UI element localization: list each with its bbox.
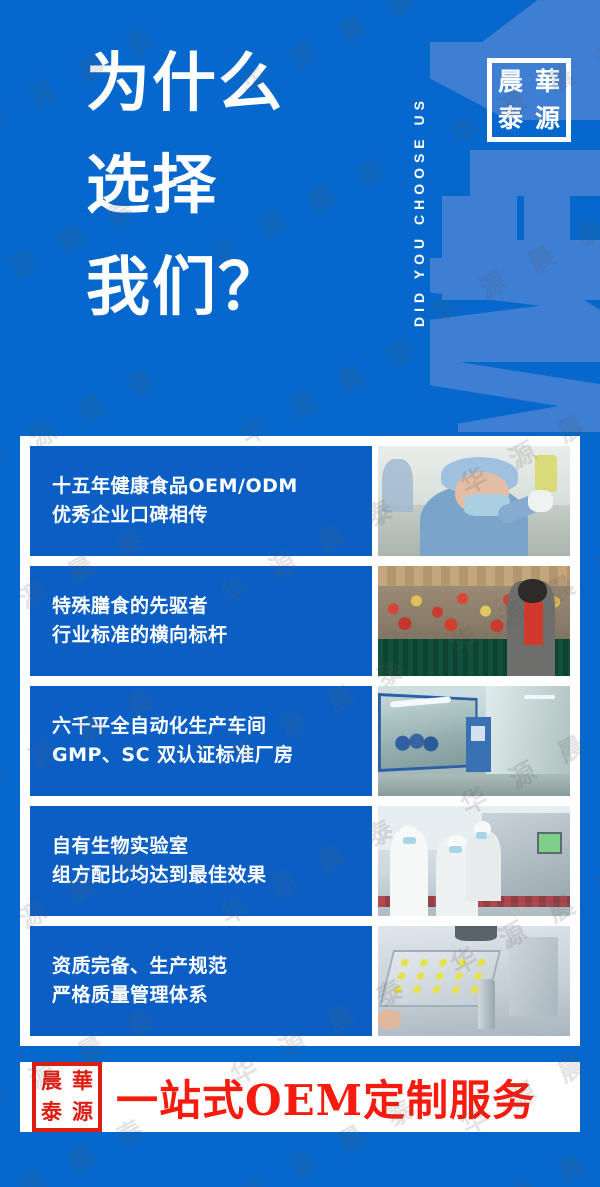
feature-line-2: 行业标准的横向标杆 — [52, 625, 372, 647]
vertical-english-subtitle: DID YOU CHOOSE US — [404, 14, 434, 410]
feature-photo-production-line-workers — [378, 806, 570, 916]
letter-h-bar — [442, 240, 600, 300]
letter-w-stroke-b — [430, 300, 600, 362]
feature-card-text: 六千平全自动化生产车间 GMP、SC 双认证标准厂房 — [30, 686, 372, 796]
letter-h-stem — [524, 150, 570, 300]
feature-line-2: 优秀企业口碑相传 — [52, 505, 372, 527]
feature-line-1: 特殊膳食的先驱者 — [52, 596, 372, 618]
feature-card: 特殊膳食的先驱者 行业标准的横向标杆 — [30, 566, 570, 676]
page-title: 为什么 选择 我们？ — [86, 52, 386, 320]
feature-photo-conference-audience — [378, 566, 570, 676]
feature-card-panel: 十五年健康食品OEM/ODM 优秀企业口碑相传 特殊膳食的先驱者 行业标准的横向… — [20, 436, 580, 1046]
feature-card-text: 特殊膳食的先驱者 行业标准的横向标杆 — [30, 566, 372, 676]
feature-line-1: 自有生物实验室 — [52, 836, 372, 858]
feature-card: 资质完备、生产规范 严格质量管理体系 — [30, 926, 570, 1036]
feature-line-2: 组方配比均达到最佳效果 — [52, 865, 372, 887]
poster-header: 为什么 选择 我们？ DID YOU CHOOSE US 晨 華 泰 源 — [0, 0, 600, 432]
company-seal-logo-red: 晨 華 泰 源 — [32, 1062, 102, 1132]
seal-char-3: 泰 — [497, 105, 524, 132]
seal-char-3: 泰 — [41, 1102, 62, 1123]
seal-char-4: 源 — [534, 105, 561, 132]
feature-card: 自有生物实验室 组方配比均达到最佳效果 — [30, 806, 570, 916]
bottom-cta-banner: 晨 華 泰 源 一站式OEM定制服务 — [20, 1062, 580, 1132]
title-line-2: 选择 — [86, 154, 386, 218]
seal-char-2: 華 — [72, 1071, 93, 1092]
seal-char-1: 晨 — [41, 1071, 62, 1092]
letter-w-stroke-c — [430, 356, 600, 416]
feature-photo-cleanroom-corridor — [378, 686, 570, 796]
feature-line-2: GMP、SC 双认证标准厂房 — [52, 745, 372, 767]
feature-card-text: 十五年健康食品OEM/ODM 优秀企业口碑相传 — [30, 446, 372, 556]
feature-line-1: 资质完备、生产规范 — [52, 956, 372, 978]
seal-char-1: 晨 — [497, 68, 524, 95]
feature-photo-lab-technician — [378, 446, 570, 556]
feature-card-text: 自有生物实验室 组方配比均达到最佳效果 — [30, 806, 372, 916]
feature-photo-blister-packaging-machine — [378, 926, 570, 1036]
promotional-poster: 为什么 选择 我们？ DID YOU CHOOSE US 晨 華 泰 源 十五年… — [0, 0, 600, 1187]
feature-line-1: 六千平全自动化生产车间 — [52, 716, 372, 738]
feature-card-text: 资质完备、生产规范 严格质量管理体系 — [30, 926, 372, 1036]
seal-char-4: 源 — [72, 1102, 93, 1123]
letter-w-stroke-a — [430, 258, 600, 310]
letter-w-stroke-d — [458, 392, 600, 432]
bottom-banner-text: 一站式OEM定制服务 — [116, 1067, 535, 1128]
title-line-1: 为什么 — [86, 52, 386, 116]
seal-char-2: 華 — [534, 68, 561, 95]
title-line-3: 我们？ — [86, 256, 386, 320]
feature-line-2: 严格质量管理体系 — [52, 985, 372, 1007]
feature-card: 十五年健康食品OEM/ODM 优秀企业口碑相传 — [30, 446, 570, 556]
letter-h-bottom — [442, 196, 517, 300]
feature-card: 六千平全自动化生产车间 GMP、SC 双认证标准厂房 — [30, 686, 570, 796]
feature-line-1: 十五年健康食品OEM/ODM — [52, 476, 372, 498]
letter-h-top — [470, 150, 600, 196]
company-seal-logo-white: 晨 華 泰 源 — [487, 58, 571, 142]
